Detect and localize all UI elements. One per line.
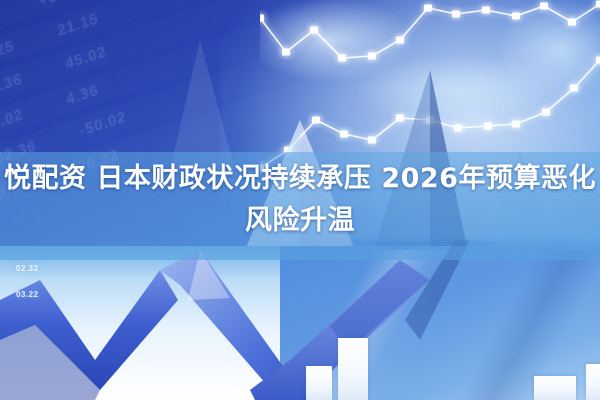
zigzag-arrow-ribbons xyxy=(0,240,600,400)
bar xyxy=(534,376,576,400)
news-banner: -02.36-11.2521.15-50.02-02.3645.02-11.25… xyxy=(0,0,600,400)
mini-tick-label: 03.22 xyxy=(16,290,39,299)
bar xyxy=(586,364,600,400)
page-title: 悦配资 日本财政状况持续承压 2026年预算恶化 风险升温 xyxy=(0,158,600,242)
bar xyxy=(306,366,332,400)
headline-line-1: 悦配资 日本财政状况持续承压 2026年预算恶化 xyxy=(4,163,596,194)
bar xyxy=(338,338,368,400)
mini-tick-label: 02.32 xyxy=(16,264,39,273)
headline-line-2: 风险升温 xyxy=(0,200,600,242)
